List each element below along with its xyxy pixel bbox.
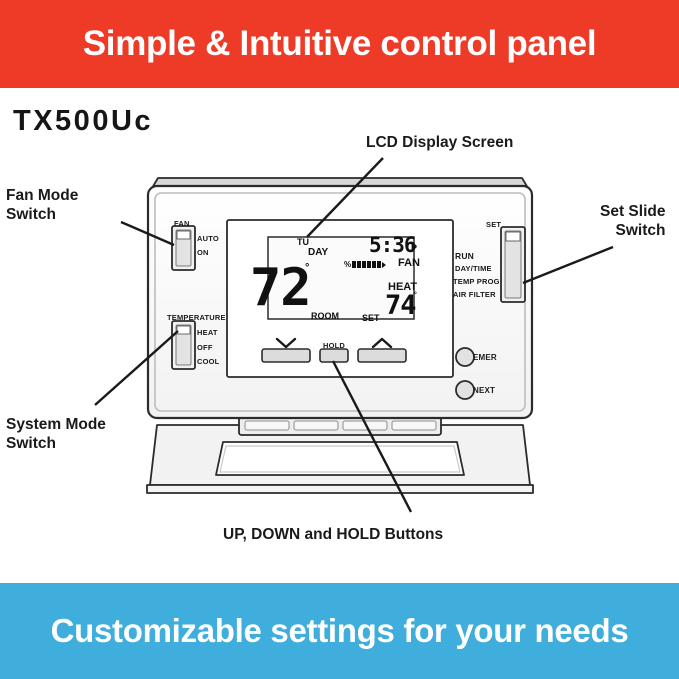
callout-set-slide-switch: Set Slide Switch bbox=[600, 202, 665, 241]
lcd-percent-icon: % bbox=[344, 260, 351, 269]
set-option-air-filter[interactable]: AIR FILTER bbox=[453, 290, 496, 299]
lcd-set-temperature: 74 bbox=[385, 292, 416, 319]
lcd-time: 5:36 bbox=[369, 233, 416, 257]
set-option-run[interactable]: RUN bbox=[455, 251, 474, 261]
temperature-switch-title: TEMPERATURE bbox=[167, 313, 226, 322]
lcd-room-degree-icon: ° bbox=[305, 262, 309, 274]
fan-switch-title: FAN bbox=[174, 219, 190, 228]
lcd-room-label: ROOM bbox=[311, 311, 339, 321]
callout-up-down-hold-buttons: UP, DOWN and HOLD Buttons bbox=[223, 525, 443, 544]
lcd-set-degree-icon: ° bbox=[414, 292, 417, 299]
lcd-ampm: P bbox=[411, 243, 417, 253]
callout-system-mode-switch: System Mode Switch bbox=[6, 415, 106, 454]
bottom-banner: Customizable settings for your needs bbox=[0, 583, 679, 679]
next-button-label[interactable]: NEXT bbox=[473, 386, 495, 395]
callout-fan-mode-switch: Fan Mode Switch bbox=[6, 186, 78, 225]
temperature-option-heat[interactable]: HEAT bbox=[197, 328, 218, 337]
fan-option-on[interactable]: ON bbox=[197, 248, 209, 257]
lcd-day-label: DAY bbox=[308, 247, 328, 258]
bottom-banner-text: Customizable settings for your needs bbox=[51, 612, 629, 650]
lcd-bargraph-icon bbox=[352, 261, 386, 268]
lcd-set-label: SET bbox=[362, 313, 380, 323]
set-option-temp-prog[interactable]: TEMP PROG bbox=[453, 277, 500, 286]
temperature-option-cool[interactable]: COOL bbox=[197, 357, 219, 366]
emer-button-label[interactable]: EMER bbox=[473, 353, 497, 362]
set-slide-title: SET bbox=[486, 220, 501, 229]
thermostat-text-layer: TU DAY 5:36 P % FAN 72 ° ROOM HEAT 74 ° … bbox=[0, 0, 679, 679]
lcd-room-temperature: 72 bbox=[250, 262, 311, 314]
fan-option-auto[interactable]: AUTO bbox=[197, 234, 219, 243]
temperature-option-off[interactable]: OFF bbox=[197, 343, 213, 352]
lcd-fan-indicator: FAN bbox=[398, 257, 420, 269]
set-option-day-time[interactable]: DAY/TIME bbox=[455, 264, 492, 273]
hold-button-label[interactable]: HOLD bbox=[323, 341, 345, 350]
lcd-weekday: TU bbox=[297, 237, 309, 247]
infographic-stage: Simple & Intuitive control panel TX500Uc bbox=[0, 0, 679, 679]
callout-lcd-display: LCD Display Screen bbox=[366, 133, 513, 152]
